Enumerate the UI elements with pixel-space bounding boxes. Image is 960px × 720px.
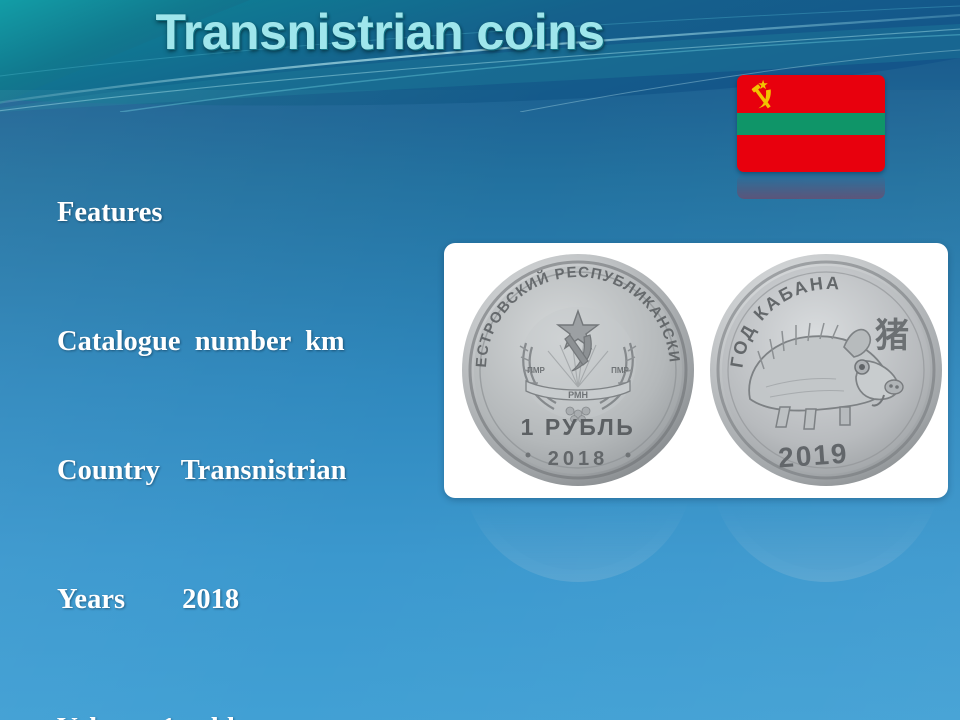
svg-text:2018: 2018 bbox=[548, 448, 609, 470]
svg-text:РМН: РМН bbox=[568, 390, 588, 400]
svg-text:2019: 2019 bbox=[777, 438, 849, 474]
coin-card-reflection: 2018 2019 bbox=[444, 499, 948, 591]
flag-graphic bbox=[737, 75, 885, 172]
coin-reverse-image: ГОД КАБАНА 猪 bbox=[706, 249, 946, 492]
zodiac-character: 猪 bbox=[875, 316, 909, 356]
flag-stripe-red-bottom bbox=[737, 135, 885, 172]
slide-canvas: Transnistrian coins Features Catalogue n… bbox=[0, 0, 960, 720]
coin-photo-card: ПРИДНЕСТРОВСКИЙ РЕСПУБЛИКАНСКИЙ БАНК bbox=[444, 243, 948, 498]
flag-reflection-graphic bbox=[737, 174, 885, 199]
flag-stripe-green bbox=[737, 113, 885, 135]
svg-text:ПМР: ПМР bbox=[611, 366, 629, 375]
coin-obverse-image: ПРИДНЕСТРОВСКИЙ РЕСПУБЛИКАНСКИЙ БАНК bbox=[458, 249, 698, 492]
flag-reflection bbox=[737, 174, 885, 199]
feature-value: Value 1 ruble bbox=[57, 707, 677, 720]
flag-reflection-stripe-red-top bbox=[737, 174, 885, 199]
hammer-and-sickle-icon bbox=[746, 78, 784, 114]
features-heading: Features bbox=[57, 191, 677, 234]
coin-reverse-reflection: 2019 bbox=[706, 499, 946, 587]
svg-text:ПМР: ПМР bbox=[527, 366, 545, 375]
flag-transnistria bbox=[737, 75, 885, 197]
coin-obverse-reflection: 2018 bbox=[458, 499, 698, 587]
svg-text:1 РУБЛЬ: 1 РУБЛЬ bbox=[521, 414, 636, 440]
page-title: Transnistrian coins bbox=[0, 3, 760, 61]
